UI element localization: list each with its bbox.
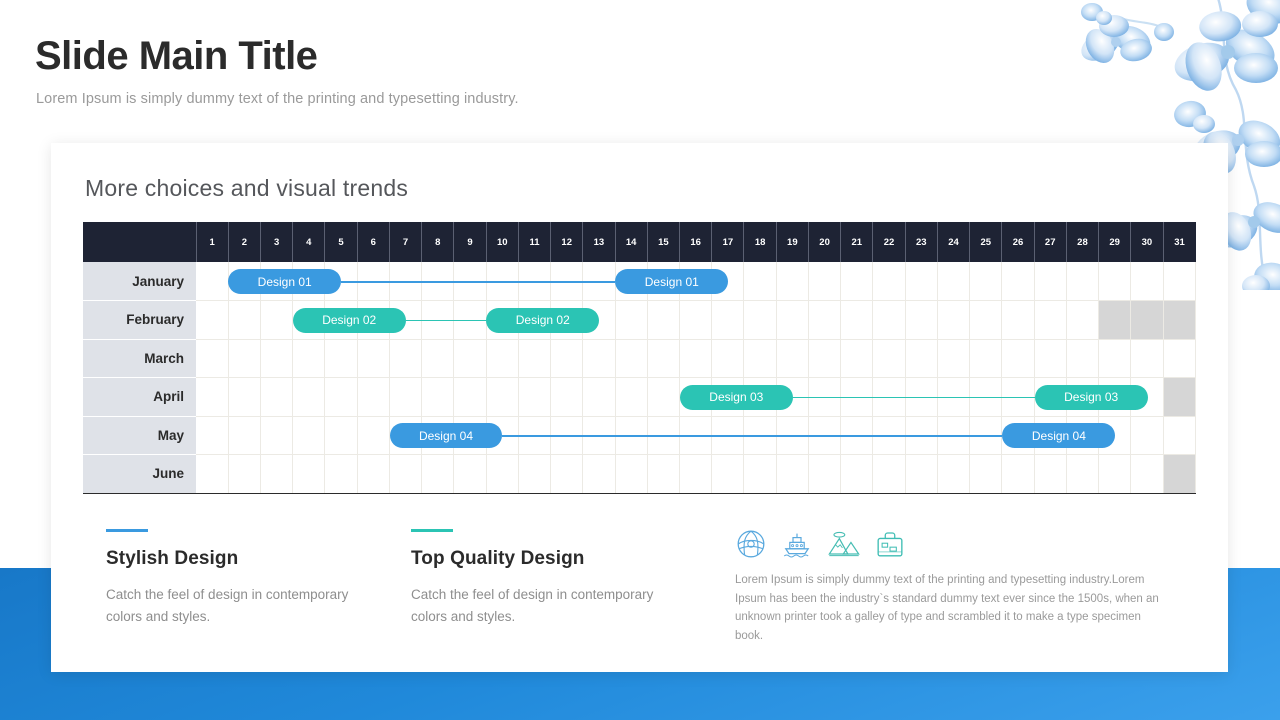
icon-column-paragraph: Lorem Ipsum is simply dummy text of the … <box>735 571 1167 646</box>
gantt-cell <box>647 301 679 340</box>
gantt-cell <box>937 416 969 455</box>
gantt-cell <box>1002 301 1034 340</box>
gantt-day-header-16: 16 <box>680 222 712 262</box>
gantt-cell <box>905 416 937 455</box>
gantt-cell <box>357 378 389 417</box>
feature-column-1: Stylish Design Catch the feel of design … <box>106 529 376 628</box>
gantt-cell <box>841 378 873 417</box>
gantt-cell-disabled <box>1163 378 1195 417</box>
gantt-day-header-3: 3 <box>260 222 292 262</box>
gantt-row: March <box>83 339 1196 378</box>
gantt-cell <box>776 455 808 494</box>
gantt-day-header-26: 26 <box>1002 222 1034 262</box>
gantt-day-header-25: 25 <box>970 222 1002 262</box>
gantt-cell <box>841 455 873 494</box>
gantt-cell <box>583 455 615 494</box>
accent-line-teal <box>411 529 453 532</box>
gantt-task-bar[interactable]: Design 04 <box>390 423 503 448</box>
gantt-day-header-22: 22 <box>873 222 905 262</box>
gantt-cell <box>389 378 421 417</box>
gantt-cell <box>808 301 840 340</box>
gantt-cell <box>905 301 937 340</box>
content-card: More choices and visual trends 123456789… <box>51 143 1228 672</box>
gantt-row: June <box>83 455 1196 494</box>
gantt-day-header-13: 13 <box>583 222 615 262</box>
gantt-cell <box>744 416 776 455</box>
gantt-cell <box>583 339 615 378</box>
gantt-cell <box>1131 262 1163 301</box>
gantt-cell <box>260 378 292 417</box>
gantt-cell <box>1099 262 1131 301</box>
gantt-cell <box>1163 416 1195 455</box>
gantt-day-header-17: 17 <box>712 222 744 262</box>
gantt-cell <box>744 301 776 340</box>
gantt-cell <box>1131 455 1163 494</box>
gantt-cell <box>776 301 808 340</box>
gantt-cell <box>905 378 937 417</box>
gantt-cell <box>518 262 550 301</box>
gantt-cell <box>873 416 905 455</box>
gantt-cell <box>389 262 421 301</box>
gantt-cell <box>1066 301 1098 340</box>
gantt-cell <box>486 262 518 301</box>
gantt-cell <box>422 378 454 417</box>
feature-body-2: Catch the feel of design in contemporary… <box>411 584 691 629</box>
gantt-month-label-june: June <box>83 455 196 494</box>
gantt-cell <box>357 262 389 301</box>
gantt-day-header-30: 30 <box>1131 222 1163 262</box>
gantt-cell <box>905 455 937 494</box>
gantt-cell <box>970 301 1002 340</box>
slide-title: Slide Main Title <box>35 35 317 77</box>
gantt-cell <box>325 378 357 417</box>
gantt-cell <box>873 378 905 417</box>
icon-column: Lorem Ipsum is simply dummy text of the … <box>735 528 1175 646</box>
gantt-cell-disabled <box>1131 301 1163 340</box>
gantt-day-header-28: 28 <box>1066 222 1098 262</box>
gantt-cell <box>841 262 873 301</box>
gantt-cell <box>196 378 228 417</box>
gantt-cell <box>551 416 583 455</box>
gantt-month-label-may: May <box>83 416 196 455</box>
gantt-day-header-8: 8 <box>422 222 454 262</box>
gantt-day-header-31: 31 <box>1163 222 1195 262</box>
gantt-cell <box>325 455 357 494</box>
gantt-row: April <box>83 378 1196 417</box>
gantt-cell <box>228 339 260 378</box>
gantt-cell <box>1034 301 1066 340</box>
gantt-day-header-18: 18 <box>744 222 776 262</box>
gantt-cell <box>1066 339 1098 378</box>
gantt-cell <box>1002 378 1034 417</box>
gantt-cell <box>808 339 840 378</box>
gantt-cell <box>647 455 679 494</box>
gantt-cell <box>1002 339 1034 378</box>
gantt-cell <box>583 262 615 301</box>
gantt-cell <box>260 339 292 378</box>
gantt-cell <box>325 416 357 455</box>
gantt-cell <box>293 378 325 417</box>
gantt-cell <box>551 339 583 378</box>
gantt-cell <box>1131 416 1163 455</box>
gantt-cell <box>712 339 744 378</box>
gantt-cell <box>808 455 840 494</box>
gantt-cell <box>744 455 776 494</box>
gantt-cell <box>1131 339 1163 378</box>
gantt-cell <box>776 262 808 301</box>
gantt-cell <box>196 339 228 378</box>
gantt-cell <box>1163 339 1195 378</box>
gantt-task-bar[interactable]: Design 03 <box>680 385 793 410</box>
gantt-cell <box>970 455 1002 494</box>
gantt-day-header-1: 1 <box>196 222 228 262</box>
gantt-cell <box>518 378 550 417</box>
gantt-day-header-14: 14 <box>615 222 647 262</box>
gantt-cell <box>228 455 260 494</box>
gantt-cell <box>1066 262 1098 301</box>
feature-body-1: Catch the feel of design in contemporary… <box>106 584 376 629</box>
gantt-day-header-9: 9 <box>454 222 486 262</box>
gantt-cell <box>518 416 550 455</box>
gantt-cell <box>647 339 679 378</box>
gantt-cell <box>196 262 228 301</box>
gantt-day-header-12: 12 <box>551 222 583 262</box>
gantt-day-header-4: 4 <box>293 222 325 262</box>
gantt-task-bar[interactable]: Design 02 <box>293 308 406 333</box>
gantt-cell <box>486 339 518 378</box>
gantt-cell <box>1099 455 1131 494</box>
gantt-day-header-2: 2 <box>228 222 260 262</box>
gantt-cell <box>454 455 486 494</box>
gantt-task-bar[interactable]: Design 04 <box>1002 423 1115 448</box>
gantt-cell <box>615 416 647 455</box>
gantt-cell <box>808 378 840 417</box>
gantt-cell-disabled <box>1163 455 1195 494</box>
gantt-cell <box>228 378 260 417</box>
gantt-day-header-5: 5 <box>325 222 357 262</box>
accent-line-blue <box>106 529 148 532</box>
gantt-cell <box>293 416 325 455</box>
gantt-cell <box>1099 339 1131 378</box>
gantt-cell <box>905 339 937 378</box>
gantt-cell <box>1002 262 1034 301</box>
gantt-day-header-7: 7 <box>389 222 421 262</box>
gantt-cell <box>937 339 969 378</box>
gantt-cell <box>744 339 776 378</box>
gantt-cell <box>422 301 454 340</box>
gantt-cell <box>518 455 550 494</box>
gantt-cell <box>486 378 518 417</box>
gantt-cell <box>776 339 808 378</box>
gantt-cell <box>808 262 840 301</box>
gantt-day-header-11: 11 <box>518 222 550 262</box>
gantt-cell <box>937 378 969 417</box>
gantt-day-header-19: 19 <box>776 222 808 262</box>
gantt-month-label-april: April <box>83 378 196 417</box>
gantt-cell <box>615 378 647 417</box>
gantt-cell <box>389 339 421 378</box>
gantt-day-header-29: 29 <box>1099 222 1131 262</box>
feature-title-2: Top Quality Design <box>411 548 691 570</box>
gantt-cell <box>260 416 292 455</box>
gantt-task-bar[interactable]: Design 01 <box>615 269 728 294</box>
gantt-cell <box>680 339 712 378</box>
suitcase-icon <box>875 528 905 560</box>
gantt-corner-cell <box>83 222 196 262</box>
gantt-cell <box>228 416 260 455</box>
gantt-task-bar[interactable]: Design 03 <box>1035 385 1148 410</box>
gantt-cell <box>712 455 744 494</box>
gantt-cell-disabled <box>1163 301 1195 340</box>
gantt-cell <box>1163 262 1195 301</box>
gantt-cell <box>937 262 969 301</box>
gantt-cell <box>615 455 647 494</box>
gantt-cell <box>196 455 228 494</box>
gantt-cell <box>551 378 583 417</box>
gantt-cell <box>905 262 937 301</box>
cruise-ship-icon <box>781 528 813 560</box>
gantt-cell <box>970 339 1002 378</box>
icon-row <box>735 528 1175 560</box>
gantt-month-label-january: January <box>83 262 196 301</box>
gantt-cell <box>357 416 389 455</box>
gantt-cell <box>712 416 744 455</box>
gantt-cell <box>196 416 228 455</box>
gantt-task-bar[interactable]: Design 02 <box>486 308 599 333</box>
gantt-cell <box>615 301 647 340</box>
gantt-cell <box>454 301 486 340</box>
gantt-cell <box>937 301 969 340</box>
gantt-day-header-21: 21 <box>841 222 873 262</box>
feature-column-2: Top Quality Design Catch the feel of des… <box>411 529 691 628</box>
gantt-day-header-27: 27 <box>1034 222 1066 262</box>
gantt-cell <box>583 416 615 455</box>
gantt-cell <box>647 378 679 417</box>
mountains-icon <box>827 528 861 560</box>
gantt-day-header-23: 23 <box>905 222 937 262</box>
gantt-cell <box>970 262 1002 301</box>
gantt-cell <box>422 455 454 494</box>
gantt-cell <box>776 416 808 455</box>
gantt-cell <box>841 416 873 455</box>
gantt-table: 1234567891011121314151617181920212223242… <box>83 222 1196 494</box>
gantt-month-label-february: February <box>83 301 196 340</box>
gantt-cell <box>389 455 421 494</box>
gantt-cell <box>680 301 712 340</box>
gantt-day-header-15: 15 <box>647 222 679 262</box>
gantt-cell <box>293 339 325 378</box>
gantt-cell <box>841 301 873 340</box>
gantt-cell <box>744 262 776 301</box>
gantt-cell <box>357 339 389 378</box>
gantt-cell <box>1034 339 1066 378</box>
gantt-cell <box>260 301 292 340</box>
beach-ball-icon <box>735 528 767 560</box>
gantt-cell <box>551 262 583 301</box>
gantt-cell <box>454 339 486 378</box>
gantt-task-bar[interactable]: Design 01 <box>228 269 341 294</box>
gantt-cell <box>551 455 583 494</box>
gantt-chart: 1234567891011121314151617181920212223242… <box>83 222 1196 494</box>
slide-subtitle: Lorem Ipsum is simply dummy text of the … <box>36 91 519 107</box>
gantt-cell <box>454 378 486 417</box>
gantt-day-header-10: 10 <box>486 222 518 262</box>
gantt-cell <box>680 416 712 455</box>
gantt-cell <box>196 301 228 340</box>
gantt-body: JanuaryFebruaryMarchAprilMayJune <box>83 262 1196 493</box>
gantt-cell <box>1066 455 1098 494</box>
gantt-cell <box>680 455 712 494</box>
gantt-cell <box>260 455 292 494</box>
gantt-header-row: 1234567891011121314151617181920212223242… <box>83 222 1196 262</box>
gantt-cell <box>454 262 486 301</box>
gantt-cell <box>970 378 1002 417</box>
gantt-cell <box>228 301 260 340</box>
gantt-cell <box>970 416 1002 455</box>
gantt-cell <box>712 301 744 340</box>
gantt-day-header-20: 20 <box>808 222 840 262</box>
gantt-cell <box>325 339 357 378</box>
gantt-cell <box>1034 455 1066 494</box>
gantt-cell <box>357 455 389 494</box>
gantt-cell <box>937 455 969 494</box>
gantt-cell <box>808 416 840 455</box>
gantt-cell <box>841 339 873 378</box>
gantt-cell <box>1002 455 1034 494</box>
gantt-cell-disabled <box>1099 301 1131 340</box>
gantt-cell <box>583 378 615 417</box>
feature-title-1: Stylish Design <box>106 548 376 570</box>
gantt-cell <box>1034 262 1066 301</box>
gantt-cell <box>647 416 679 455</box>
gantt-month-label-march: March <box>83 339 196 378</box>
gantt-day-header-24: 24 <box>937 222 969 262</box>
gantt-cell <box>293 455 325 494</box>
gantt-cell <box>615 339 647 378</box>
gantt-cell <box>873 339 905 378</box>
gantt-cell <box>422 262 454 301</box>
gantt-cell <box>873 455 905 494</box>
gantt-day-header-6: 6 <box>357 222 389 262</box>
gantt-cell <box>518 339 550 378</box>
gantt-cell <box>873 301 905 340</box>
gantt-cell <box>873 262 905 301</box>
gantt-row: February <box>83 301 1196 340</box>
gantt-cell <box>486 455 518 494</box>
section-heading: More choices and visual trends <box>85 175 408 202</box>
gantt-cell <box>422 339 454 378</box>
